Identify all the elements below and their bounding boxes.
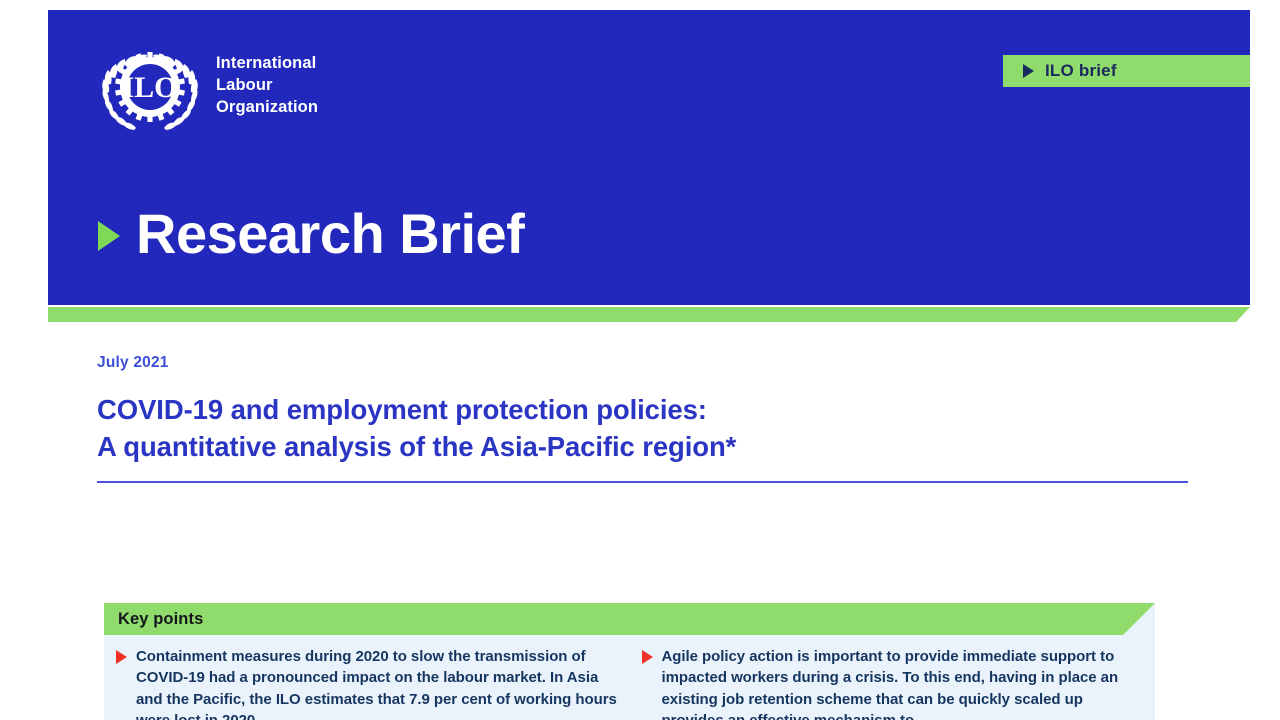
triangle-right-icon bbox=[642, 650, 653, 664]
key-point-item: Agile policy action is important to prov… bbox=[642, 646, 1144, 720]
research-brief-label: Research Brief bbox=[136, 206, 524, 262]
key-point-item: Containment measures during 2020 to slow… bbox=[116, 646, 618, 720]
triangle-right-icon bbox=[1023, 64, 1034, 78]
organization-name: International Labour Organization bbox=[216, 45, 318, 119]
document-page: ILO International Labour Organization IL… bbox=[0, 0, 1280, 720]
triangle-right-icon bbox=[98, 221, 120, 251]
page-title: COVID-19 and employment protection polic… bbox=[97, 392, 1192, 465]
ilo-emblem-icon: ILO bbox=[97, 45, 203, 131]
triangle-right-icon bbox=[116, 650, 127, 664]
key-point-text: Agile policy action is important to prov… bbox=[662, 646, 1144, 720]
research-brief-title: Research Brief bbox=[98, 206, 524, 262]
key-points-columns: Containment measures during 2020 to slow… bbox=[104, 635, 1155, 720]
title-divider bbox=[97, 481, 1188, 483]
svg-text:ILO: ILO bbox=[122, 71, 177, 104]
publication-date: July 2021 bbox=[97, 354, 169, 372]
ilo-logo-block: ILO International Labour Organization bbox=[97, 45, 318, 131]
key-point-text: Containment measures during 2020 to slow… bbox=[136, 646, 618, 720]
key-points-panel: Key points Containment measures during 2… bbox=[104, 603, 1155, 720]
key-points-header: Key points bbox=[104, 603, 1155, 635]
key-points-heading: Key points bbox=[104, 610, 203, 629]
ilo-brief-badge: ILO brief bbox=[1003, 55, 1250, 87]
ilo-brief-label: ILO brief bbox=[1045, 61, 1117, 81]
header-green-strip bbox=[48, 307, 1250, 322]
header-band: ILO International Labour Organization IL… bbox=[48, 10, 1250, 305]
